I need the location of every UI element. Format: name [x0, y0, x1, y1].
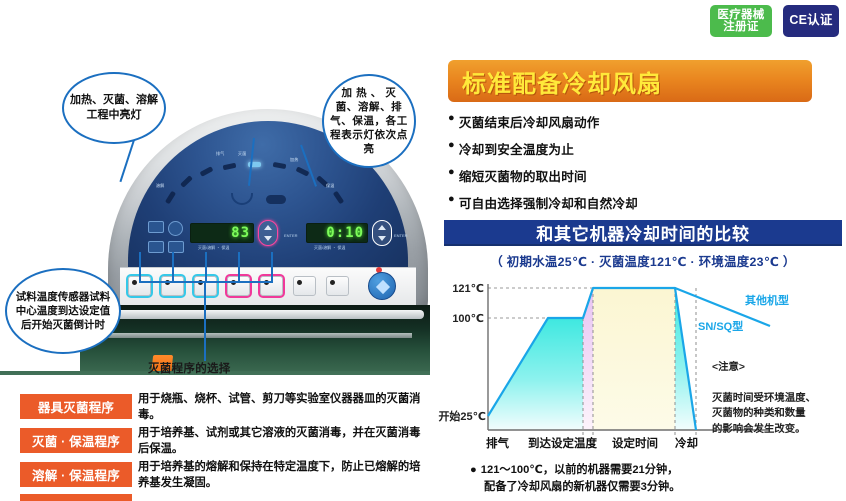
table-row: 灭菌 · 保温程序 用于培养基、试剂或其它溶液的灭菌消毒，并在灭菌消毒后保温。	[0, 426, 436, 460]
chart-footer-note: ●121～100℃，以前的机器需要21分钟， 配备了冷却风扇的新机器仅需要3分钟…	[470, 462, 680, 496]
callout-3-text: 试料温度传感器试料中心温度到达设定值后开始灭菌倒计时	[13, 290, 113, 333]
badge-ce-certification[interactable]: CE认证	[783, 5, 839, 37]
chart-note-heading: <注意>	[712, 360, 816, 376]
callout-heating-sterilize-melt-lamp: 加热、灭菌、溶解工程中亮灯	[62, 72, 166, 144]
footer-bullet-icon: ●	[470, 464, 477, 476]
program-button-7[interactable]	[326, 276, 349, 296]
chamber-shelf	[92, 333, 412, 338]
chart-fill-ramp	[583, 288, 593, 430]
badge-medical-device-registration[interactable]: 医疗器械 注册证	[710, 5, 772, 37]
sterilization-program-selection-caption: 灭菌程序的选择	[148, 360, 231, 376]
led-temperature-display: 83	[190, 223, 254, 243]
chart-title: 和其它机器冷却时间的比较	[536, 220, 750, 245]
bullet-text: 灭菌结束后冷却风扇动作	[459, 112, 600, 131]
chart-subtitle: （ 初期水温25℃ · 灭菌温度121℃ · 环境温度23℃ ）	[440, 252, 846, 270]
chamber-lip	[86, 310, 424, 319]
program-button-bar	[120, 267, 416, 305]
bullet-text: 缩短灭菌物的取出时间	[459, 166, 587, 185]
program-tag-truncated	[20, 494, 132, 501]
program-button-6[interactable]	[293, 276, 316, 296]
feature-bullet-list: ● 灭菌结束后冷却风扇动作 ● 冷却到安全温度为止 ● 缩短灭菌物的取出时间 ●…	[440, 112, 846, 212]
badge-line1: 医疗器械	[717, 9, 764, 21]
mode-button-2[interactable]	[148, 241, 164, 253]
series-label-sn-sq: SN/SQ型	[698, 318, 743, 334]
badge-line1: CE认证	[789, 14, 832, 28]
enter-label-left: ENTER	[284, 233, 298, 238]
series-label-other: 其他机型	[745, 292, 789, 308]
program-desc: 用于烧瓶、烧杯、试管、剪刀等实验室仪器器皿的灭菌消毒。	[138, 391, 430, 423]
program-desc: 用于培养基的熔解和保持在特定温度下，防止已熔解的培养基发生凝固。	[138, 459, 430, 491]
sub-label-2: 灭菌/溶解 ・ 保温	[314, 245, 345, 251]
mode-button-3[interactable]	[168, 221, 183, 236]
temperature-updown-button[interactable]	[258, 220, 278, 246]
certification-badges: 医疗器械 注册证 CE认证	[700, 0, 846, 42]
enter-label-right: ENTER	[394, 233, 408, 238]
sub-label-1: 灭菌/溶解 ・ 保温	[198, 245, 229, 251]
list-item: ● 冷却到安全温度为止	[448, 139, 846, 158]
mode-button-1[interactable]	[148, 221, 164, 233]
time-updown-button[interactable]	[372, 220, 392, 246]
callout-process-indicator-sequence: 加 热 、 灭 菌、溶解、排气、保温，各工程表示灯依次点亮	[322, 74, 416, 168]
program-desc: 用于培养基、试剂或其它溶液的灭菌消毒，并在灭菌消毒后保温。	[138, 425, 430, 457]
right-content-column: 标准配备冷却风扇 ● 灭菌结束后冷却风扇动作 ● 冷却到安全温度为止 ● 缩短灭…	[440, 60, 846, 458]
chart-note: <注意> 灭菌时间受环境温度、 灭菌物的种类和数量 的影响会发生改变。	[712, 344, 816, 453]
feature-banner: 标准配备冷却风扇	[448, 60, 812, 102]
led-time-display: 0:10	[306, 223, 368, 243]
bullet-dot-icon: ●	[448, 166, 455, 180]
program-tag: 灭菌 · 保温程序	[20, 428, 132, 453]
start-stop-button[interactable]	[368, 272, 396, 300]
table-row: 器具灭菌程序 用于烧瓶、烧杯、试管、剪刀等实验室仪器器皿的灭菌消毒。	[0, 392, 436, 426]
badge-line2: 注册证	[723, 21, 758, 33]
table-row-truncated	[0, 494, 436, 501]
table-row: 溶解 · 保温程序 用于培养基的熔解和保持在特定温度下，防止已熔解的培养基发生凝…	[0, 460, 436, 494]
list-item: ● 可自由选择强制冷却和自然冷却	[448, 193, 846, 212]
bullet-dot-icon: ●	[448, 193, 455, 207]
mode-button-4[interactable]	[168, 241, 184, 253]
chart-fill-exhaust-heat	[488, 318, 583, 430]
x-tick-reach-temp: 到达设定温度	[528, 435, 597, 451]
callout-2-text: 加 热 、 灭 菌、溶解、排气、保温，各工程表示灯依次点亮	[330, 86, 408, 157]
program-tag: 溶解 · 保温程序	[20, 462, 132, 487]
chart-title-banner: 和其它机器冷却时间的比较	[444, 220, 842, 246]
y-tick-121: 121℃	[440, 282, 484, 295]
footer-note-line2: 配备了冷却风扇的新机器仅需要3分钟。	[470, 479, 680, 496]
cooling-comparison-chart: 121℃ 100℃ 开始25℃ 排气 到达设定温度 设定时间 冷却 其他机型 S…	[440, 278, 846, 458]
program-tag: 器具灭菌程序	[20, 394, 132, 419]
x-tick-set-time: 设定时间	[612, 435, 658, 451]
feature-banner-title: 标准配备冷却风扇	[462, 64, 662, 99]
bullet-text: 冷却到安全温度为止	[459, 139, 574, 158]
chart-fill-hold	[593, 288, 675, 430]
y-tick-100: 100℃	[440, 312, 484, 325]
list-item: ● 灭菌结束后冷却风扇动作	[448, 112, 846, 131]
bullet-text: 可自由选择强制冷却和自然冷却	[459, 193, 638, 212]
page-root: 医疗器械 注册证 CE认证 溶解 灭菌 保温 加热	[0, 0, 846, 501]
y-tick-start25: 开始25℃	[432, 408, 486, 424]
list-item: ● 缩短灭菌物的取出时间	[448, 166, 846, 185]
bullet-dot-icon: ●	[448, 139, 455, 153]
chart-note-body: 灭菌时间受环境温度、 灭菌物的种类和数量 的影响会发生改变。	[712, 391, 816, 438]
callout-1-text: 加热、灭菌、溶解工程中亮灯	[70, 93, 158, 123]
callout-sample-temp-sensor: 试料温度传感器试料中心温度到达设定值后开始灭菌倒计时	[5, 268, 121, 354]
x-tick-exhaust: 排气	[486, 435, 509, 451]
footer-note-text1: 121～100℃，以前的机器需要21分钟，	[481, 464, 679, 476]
program-table: 器具灭菌程序 用于烧瓶、烧杯、试管、剪刀等实验室仪器器皿的灭菌消毒。 灭菌 · …	[0, 392, 436, 501]
bullet-dot-icon: ●	[448, 112, 455, 126]
x-tick-cooling: 冷却	[675, 435, 698, 451]
footer-note-line1: ●121～100℃，以前的机器需要21分钟，	[470, 462, 680, 479]
